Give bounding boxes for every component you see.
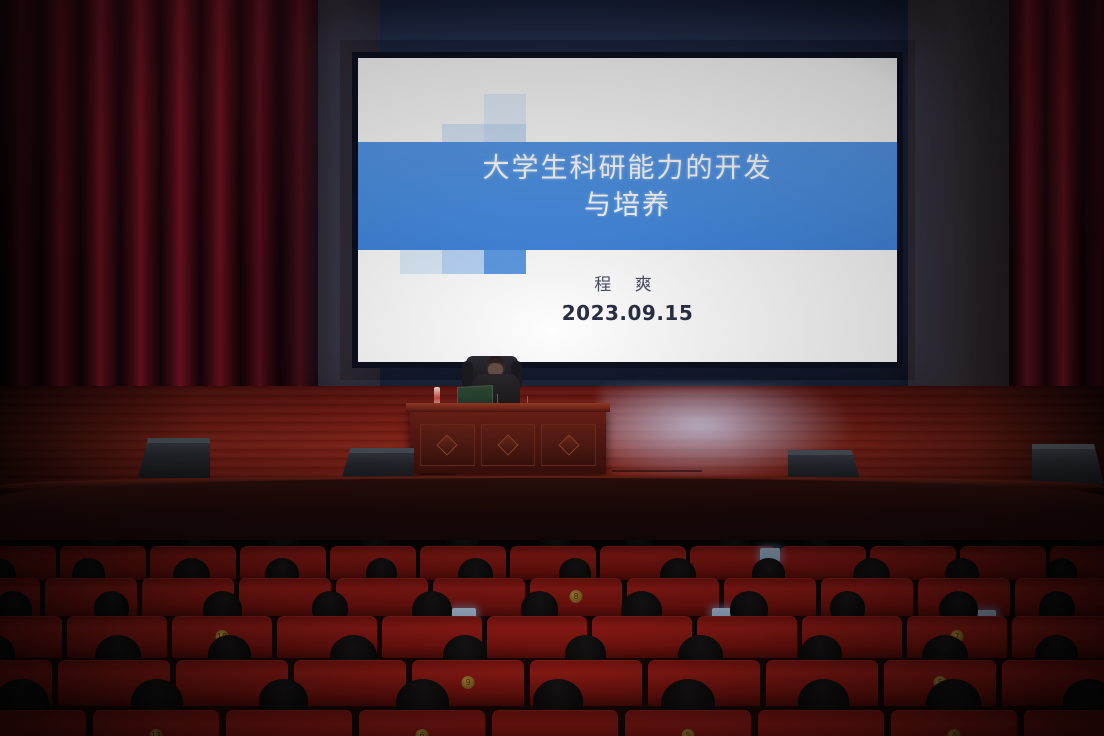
desk-panel-diamond xyxy=(437,434,458,455)
desk-panel xyxy=(541,424,596,466)
monitor-top-face xyxy=(138,438,210,443)
floor-monitor-speaker xyxy=(1032,444,1104,484)
projection-screen: 大学生科研能力的开发 与培养 程 爽 2023.09.15 xyxy=(358,58,897,362)
desk-panel-diamond xyxy=(497,434,518,455)
audience-vignette xyxy=(0,540,1104,736)
auditorium-scene: 大学生科研能力的开发 与培养 程 爽 2023.09.15 8107951365… xyxy=(0,0,1104,736)
floor-monitor-speaker xyxy=(138,438,210,478)
slide-author: 程 爽 xyxy=(358,270,897,295)
slide-date: 2023.09.15 xyxy=(358,301,897,325)
slide-title: 大学生科研能力的开发 与培养 xyxy=(358,150,897,224)
monitor-top-face xyxy=(788,450,862,455)
monitor-top-face xyxy=(1032,444,1104,449)
stage-cable-a xyxy=(420,473,456,475)
desk-panel xyxy=(420,424,475,466)
slide-title-line2: 与培养 xyxy=(358,187,897,224)
desk-panel xyxy=(481,424,536,466)
monitor-top-face xyxy=(340,448,414,453)
slide-deco-square xyxy=(484,94,526,124)
desk-top-surface xyxy=(406,403,610,412)
audience-seating: 81079513654 xyxy=(0,540,1104,736)
desk-panel-diamond xyxy=(558,434,579,455)
lecture-desk xyxy=(410,410,606,474)
desk-front-panels xyxy=(420,424,596,466)
slide-title-line1: 大学生科研能力的开发 xyxy=(483,153,773,184)
stage-cable-b xyxy=(612,470,702,472)
